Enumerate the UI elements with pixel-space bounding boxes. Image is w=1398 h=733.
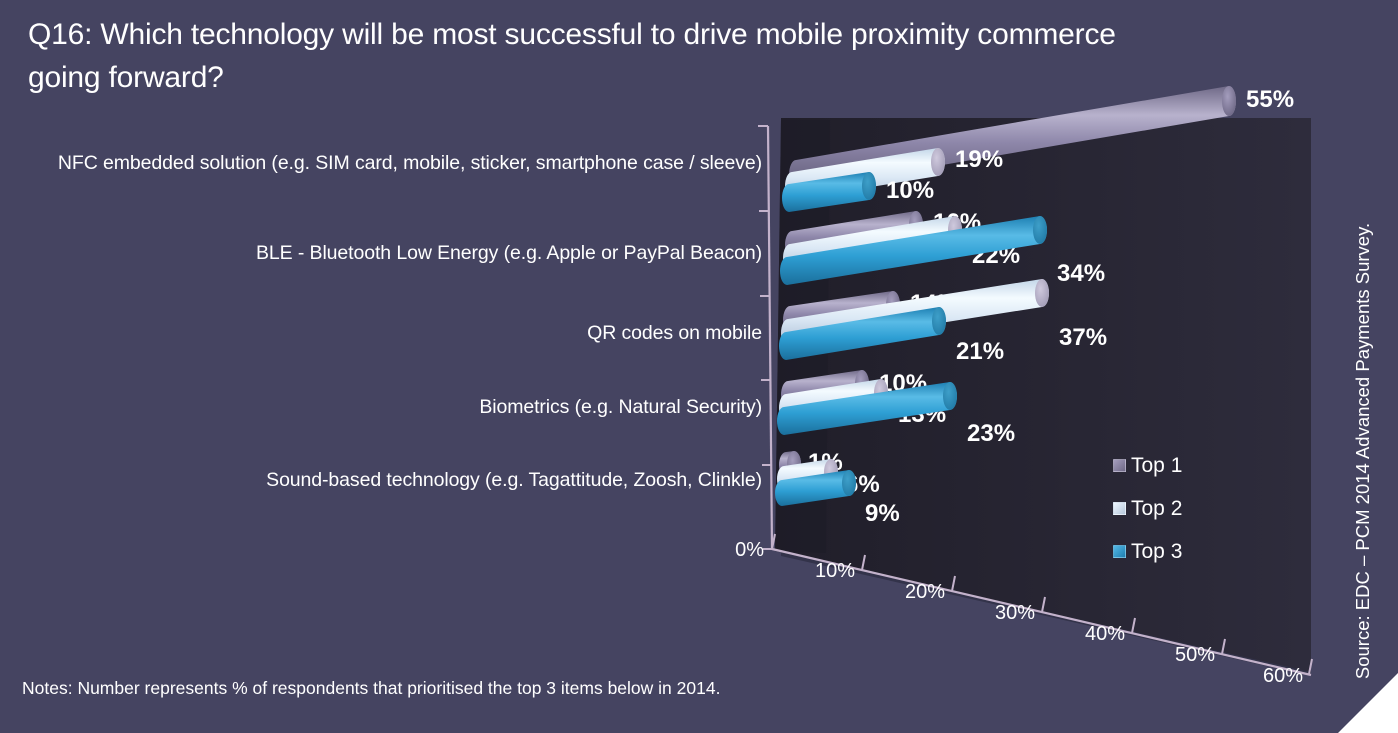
x-tick-1: 10% [815, 560, 855, 582]
legend-item-top1[interactable]: Top 1 [1113, 444, 1253, 487]
label-top3-cat0: 10% [886, 177, 934, 204]
category-label-4: Sound-based technology (e.g. Tagattitude… [266, 467, 762, 493]
x-tick-5: 50% [1175, 644, 1215, 666]
x-tick-3: 30% [995, 602, 1035, 624]
legend-label-top1: Top 1 [1131, 454, 1182, 478]
legend-swatch-top2 [1113, 502, 1126, 515]
label-top2-cat0: 19% [955, 146, 1003, 173]
legend-item-top3[interactable]: Top 3 [1113, 530, 1253, 573]
chart-legend: Top 1 Top 2 Top 3 [1113, 444, 1253, 573]
x-tick-2: 20% [905, 581, 945, 603]
x-tick-6: 60% [1263, 665, 1303, 687]
label-top1-cat0: 55% [1246, 86, 1294, 113]
label-top3-cat1: 34% [1057, 260, 1105, 287]
notes-text: Notes: Number represents % of respondent… [22, 678, 720, 699]
legend-label-top3: Top 3 [1131, 540, 1182, 564]
label-top2-cat2: 37% [1059, 324, 1107, 351]
legend-swatch-top1 [1113, 459, 1126, 472]
label-top3-cat2: 21% [956, 338, 1004, 365]
slide-root: 0% 10% 20% 30% 40% 50% 60% 55% 19% [0, 0, 1398, 733]
category-label-1: BLE - Bluetooth Low Energy (e.g. Apple o… [256, 240, 762, 266]
category-label-3: Biometrics (e.g. Natural Security) [479, 394, 762, 420]
label-top3-cat3: 23% [967, 420, 1015, 447]
label-top3-cat4: 9% [865, 500, 900, 527]
category-label-2: QR codes on mobile [587, 320, 762, 346]
x-tick-4: 40% [1085, 623, 1125, 645]
category-label-0: NFC embedded solution (e.g. SIM card, mo… [58, 150, 762, 176]
legend-label-top2: Top 2 [1131, 497, 1182, 521]
y-axis-line [768, 126, 772, 549]
legend-item-top2[interactable]: Top 2 [1113, 487, 1253, 530]
corner-fold-decoration [1338, 673, 1398, 733]
source-text: Source: EDC – PCM 2014 Advanced Payments… [1352, 191, 1374, 711]
legend-swatch-top3 [1113, 545, 1126, 558]
category-axis-labels: NFC embedded solution (e.g. SIM card, mo… [20, 0, 762, 733]
